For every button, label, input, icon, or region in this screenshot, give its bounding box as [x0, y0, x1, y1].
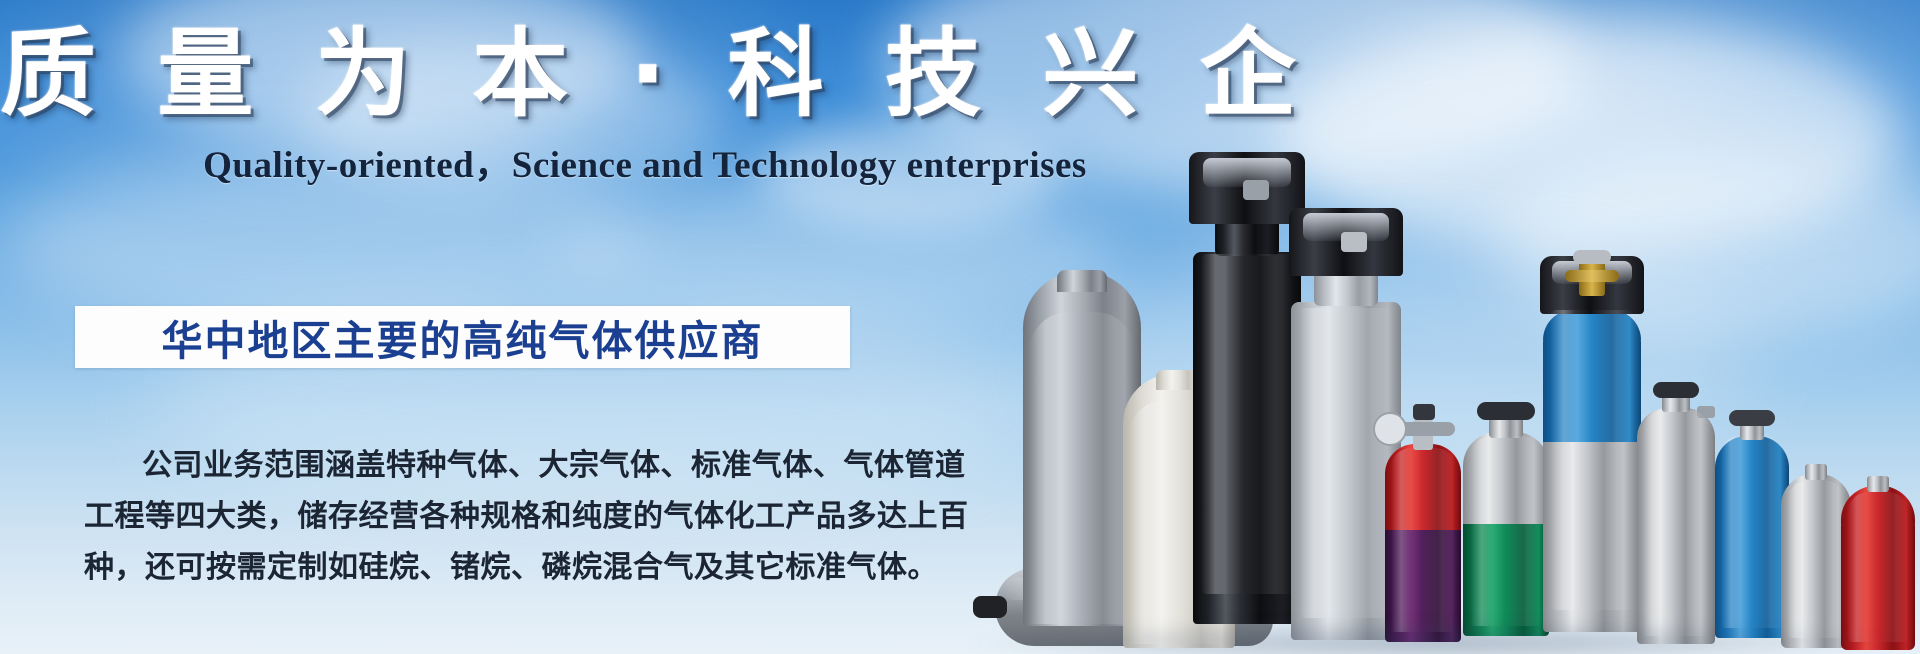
highlight-box: 华中地区主要的高纯气体供应商	[75, 306, 850, 368]
blue-silver-cylinder	[1543, 240, 1641, 632]
group-shadow	[955, 620, 1915, 654]
promo-banner: 质 量 为 本 · 科 技 兴 企 Quality-oriented，Scien…	[0, 0, 1920, 654]
highlight-text: 华中地区主要的高纯气体供应商	[162, 307, 764, 367]
black-tall-cylinder	[1193, 154, 1301, 624]
blue-small-cylinder	[1715, 406, 1789, 638]
green-cylinder	[1463, 386, 1549, 636]
banner-headline: 质 量 为 本 · 科 技 兴 企	[0, 24, 1290, 126]
banner-paragraph: 公司业务范围涵盖特种气体、大宗气体、标准气体、气体管道 工程等四大类，储存经营各…	[84, 440, 884, 593]
paragraph-line: 公司业务范围涵盖特种气体、大宗气体、标准气体、气体管道	[84, 440, 884, 491]
red-purple-cylinder	[1385, 392, 1461, 642]
silver-small-cylinder	[1637, 376, 1715, 644]
paragraph-line: 种，还可按需定制如硅烷、锗烷、磷烷混合气及其它标准气体。	[84, 542, 884, 593]
gas-cylinder-group	[955, 120, 1920, 654]
paragraph-line: 工程等四大类，储存经营各种规格和纯度的气体化工产品多达上百	[84, 491, 884, 542]
